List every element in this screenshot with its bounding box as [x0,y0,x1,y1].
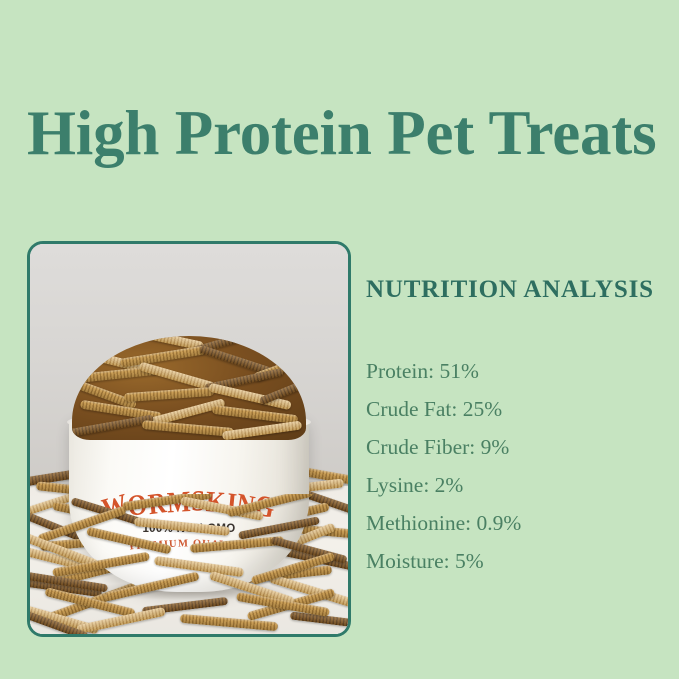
mealworm-pile-front [30,494,348,634]
nutrition-item-lysine: Lysine: 2% [366,466,666,504]
nutrition-item-crude-fat: Crude Fat: 25% [366,390,666,428]
nutrition-item-moisture: Moisture: 5% [366,542,666,580]
nutrition-item-protein: Protein: 51% [366,352,666,390]
nutrition-item-crude-fiber: Crude Fiber: 9% [366,428,666,466]
product-photo-frame: WORMSKING 100% NON-GMO PREMIUM QUALITY [27,241,351,637]
nutrition-heading: NUTRITION ANALYSIS [366,276,666,304]
nutrition-list: Protein: 51% Crude Fat: 25% Crude Fiber:… [366,352,666,580]
page-title: High Protein Pet Treats [27,102,667,165]
nutrition-item-methionine: Methionine: 0.9% [366,504,666,542]
product-photo: WORMSKING 100% NON-GMO PREMIUM QUALITY [30,244,348,634]
nutrition-analysis-panel: NUTRITION ANALYSIS Protein: 51% Crude Fa… [366,276,666,580]
